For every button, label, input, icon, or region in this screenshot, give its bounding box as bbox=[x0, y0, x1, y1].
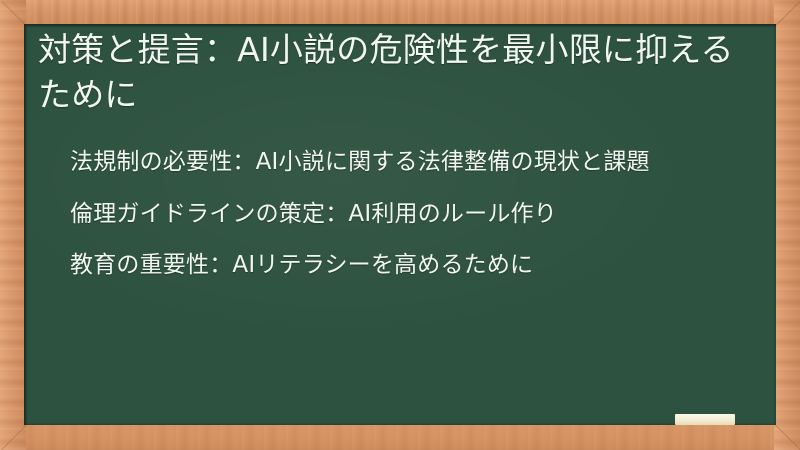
frame-right-rail bbox=[774, 0, 800, 450]
bullet-list: 法規制の必要性：AI小説に関する法律整備の現状と課題 倫理ガイドラインの策定：A… bbox=[58, 146, 748, 282]
chalkboard-slide: 対策と提言：AI小説の危険性を最小限に抑えるために 法規制の必要性：AI小説に関… bbox=[0, 0, 800, 450]
frame-bottom-ledge bbox=[0, 424, 800, 450]
chalkboard-content: 対策と提言：AI小説の危険性を最小限に抑えるために 法規制の必要性：AI小説に関… bbox=[24, 24, 776, 425]
chalkboard-surface: 対策と提言：AI小説の危険性を最小限に抑えるために 法規制の必要性：AI小説に関… bbox=[24, 24, 776, 425]
frame-left-rail bbox=[0, 0, 26, 450]
slide-title: 対策と提言：AI小説の危険性を最小限に抑えるために bbox=[38, 28, 738, 118]
bullet-item-3: 教育の重要性：AIリテラシーを高めるために bbox=[58, 249, 748, 282]
bullet-item-1: 法規制の必要性：AI小説に関する法律整備の現状と課題 bbox=[58, 146, 748, 179]
chalk-stick-icon bbox=[675, 414, 735, 425]
frame-top-rail bbox=[0, 0, 800, 26]
bullet-item-2: 倫理ガイドラインの策定：AI利用のルール作り bbox=[58, 198, 748, 231]
